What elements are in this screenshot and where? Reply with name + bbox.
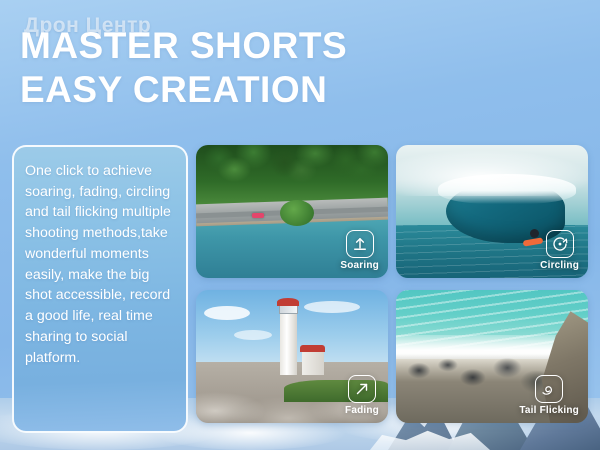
description-text: One click to achieve soaring, fading, ci…: [14, 147, 186, 368]
badge-label-circling: Circling: [540, 260, 579, 271]
description-card: One click to achieve soaring, fading, ci…: [12, 145, 188, 433]
tile-soaring[interactable]: Soaring: [196, 145, 388, 278]
badge-fading: Fading: [345, 375, 379, 416]
badge-label-tail-flicking: Tail Flicking: [519, 405, 579, 416]
arrow-diagonal-up-right-icon: [348, 375, 376, 403]
tile-fading[interactable]: Fading: [196, 290, 388, 423]
badge-soaring: Soaring: [340, 230, 379, 271]
badge-label-fading: Fading: [345, 405, 379, 416]
badge-circling: Circling: [540, 230, 579, 271]
promo-banner: Дрон Центр MASTER SHORTS EASY CREATION O…: [0, 0, 600, 450]
tile-circling[interactable]: Circling: [396, 145, 588, 278]
badge-label-soaring: Soaring: [340, 260, 379, 271]
arrow-up-from-line-icon: [346, 230, 374, 258]
headline-line-2: EASY CREATION: [20, 68, 440, 112]
page-title: MASTER SHORTS EASY CREATION: [20, 24, 440, 113]
spiral-swirl-icon: [535, 375, 563, 403]
headline-line-1: MASTER SHORTS: [20, 25, 347, 66]
tile-tail-flicking[interactable]: Tail Flicking: [396, 290, 588, 423]
circular-arrow-icon: [546, 230, 574, 258]
badge-tail-flicking: Tail Flicking: [519, 375, 579, 416]
